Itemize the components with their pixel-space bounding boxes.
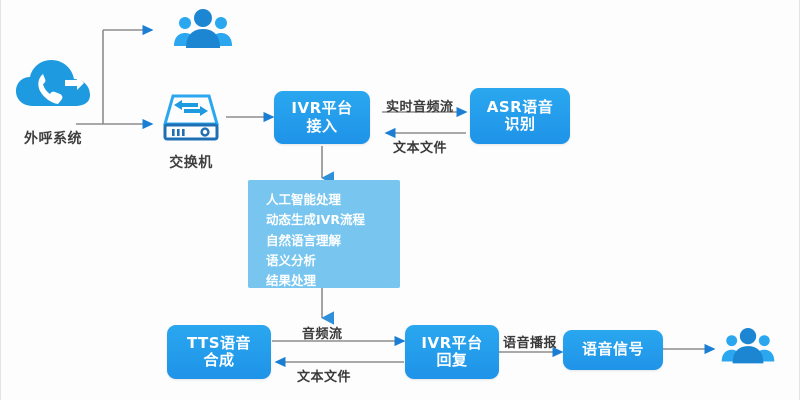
node-tts-line1: TTS语音 xyxy=(187,335,251,352)
edge-label-text-file-top: 文本文件 xyxy=(393,137,447,156)
process-line-4: 语义分析 xyxy=(266,251,400,271)
connector-layer xyxy=(0,0,800,400)
node-customers-end[interactable] xyxy=(716,325,780,377)
people-group-icon xyxy=(719,325,777,373)
edge-label-realtime-audio: 实时音频流 xyxy=(386,96,454,115)
network-switch-icon xyxy=(160,92,222,148)
process-line-5: 结果处理 xyxy=(266,271,400,291)
diagram-canvas: 外呼系统 xyxy=(0,0,800,400)
edge-label-voice-broadcast: 语音播报 xyxy=(503,332,557,351)
node-voice-signal-line1: 语音信号 xyxy=(582,341,644,358)
node-ivr-access-line2: 接入 xyxy=(306,118,337,135)
node-outbound-system-label: 外呼系统 xyxy=(24,128,82,148)
node-tts-line2: 合成 xyxy=(203,352,234,369)
node-switch[interactable]: 交换机 xyxy=(155,92,227,172)
node-asr[interactable]: ASR语音 识别 xyxy=(470,88,570,144)
node-ivr-access[interactable]: IVR平台 接入 xyxy=(274,91,370,144)
edge-label-audio-stream: 音频流 xyxy=(302,323,343,342)
node-tts[interactable]: TTS语音 合成 xyxy=(167,325,271,379)
node-ivr-reply-line1: IVR平台 xyxy=(421,335,482,352)
cloud-phone-icon xyxy=(13,58,93,124)
node-voice-signal[interactable]: 语音信号 xyxy=(563,330,663,370)
process-line-1: 人工智能处理 xyxy=(266,190,400,210)
node-switch-label: 交换机 xyxy=(169,152,213,172)
node-asr-line1: ASR语音 xyxy=(487,99,553,116)
node-asr-line2: 识别 xyxy=(504,116,535,133)
page-edge-left xyxy=(0,0,1,400)
people-group-icon xyxy=(171,6,235,58)
node-ivr-reply[interactable]: IVR平台 回复 xyxy=(405,325,499,379)
node-ivr-reply-line2: 回复 xyxy=(436,352,467,369)
node-ai-process-box[interactable]: 人工智能处理 动态生成IVR流程 自然语言理解 语义分析 结果处理 xyxy=(248,180,400,288)
node-outbound-system[interactable]: 外呼系统 xyxy=(8,58,98,148)
node-ivr-access-line1: IVR平台 xyxy=(291,100,352,117)
edge-label-text-file-bottom: 文本文件 xyxy=(297,366,351,385)
node-agents-top[interactable] xyxy=(168,6,238,62)
process-line-3: 自然语言理解 xyxy=(266,231,400,251)
process-line-2: 动态生成IVR流程 xyxy=(266,210,400,230)
